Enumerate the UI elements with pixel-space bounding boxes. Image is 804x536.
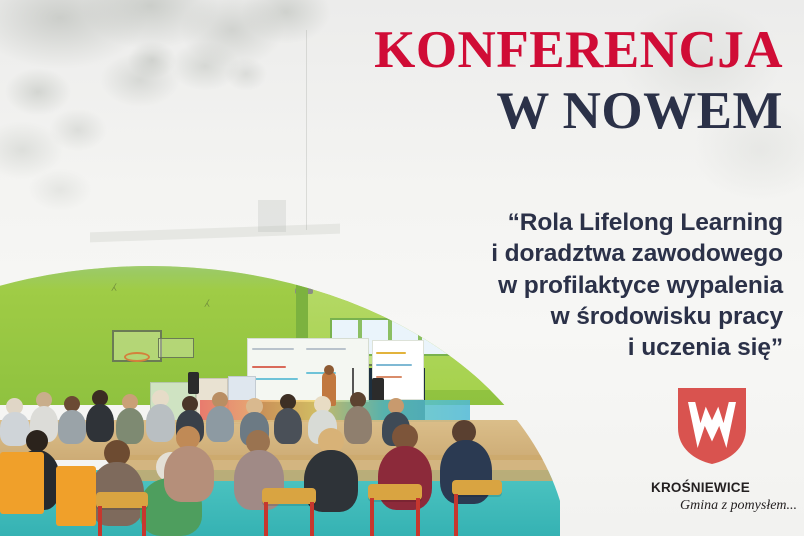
board-text-line <box>376 352 406 354</box>
conference-subject-quote: “Rola Lifelong Learning i doradztwa zawo… <box>453 207 783 364</box>
screen-text-line <box>252 366 286 368</box>
page-title-line1: KONFERENCJA <box>374 24 783 77</box>
wall-mark: ⁁ <box>112 272 116 292</box>
quote-line-5: i uczenia się” <box>453 332 783 363</box>
quote-line-1: “Rola Lifelong Learning <box>453 207 783 238</box>
quote-line-3: w profilaktyce wypalenia <box>453 270 783 301</box>
chair-leg <box>142 506 146 536</box>
quote-line-4: w środowisku pracy <box>453 301 783 332</box>
chair-leg <box>370 498 374 536</box>
basketball-hoop-icon <box>124 352 150 362</box>
chair-leg <box>310 502 314 536</box>
speaker-box <box>188 372 199 394</box>
conference-poster: ⁁ ⁁ <box>0 0 804 536</box>
audience-person <box>58 410 86 444</box>
screen-text-line <box>252 378 298 380</box>
audience-person <box>146 404 175 442</box>
chair <box>452 480 502 495</box>
speaker-box <box>372 378 384 402</box>
chair-leg <box>98 506 102 536</box>
logo-municipality-name: KROŚNIEWICE <box>651 480 750 495</box>
wall-mark: ⁁ <box>205 288 209 308</box>
chair <box>368 484 422 500</box>
quote-line-2: i doradztwa zawodowego <box>453 238 783 269</box>
chair <box>96 492 148 508</box>
screen-text-line <box>306 348 346 350</box>
screen-text-line <box>252 348 294 350</box>
logo-tagline: Gmina z pomysłem... <box>680 498 797 514</box>
orange-chair <box>56 466 96 526</box>
presenter-head <box>324 365 334 375</box>
orange-chair <box>0 452 44 514</box>
audience-person <box>344 406 372 444</box>
audience-person <box>274 408 302 444</box>
audience-person <box>164 446 214 502</box>
chair-leg <box>264 502 268 536</box>
audience-person <box>86 404 114 442</box>
page-title-line2: W NOWEM <box>496 85 783 138</box>
chair-leg <box>416 498 420 536</box>
audience-person <box>378 446 432 510</box>
chair-leg <box>454 494 458 536</box>
audience-head <box>26 430 48 452</box>
chair <box>262 488 316 504</box>
basketball-arm <box>158 338 194 358</box>
audience-person <box>116 408 144 444</box>
background-pole <box>306 30 307 230</box>
board-text-line <box>376 364 412 366</box>
krosniewice-logo: KROŚNIEWICE Gmina z pomysłem... <box>640 386 800 526</box>
audience-person <box>206 406 234 442</box>
